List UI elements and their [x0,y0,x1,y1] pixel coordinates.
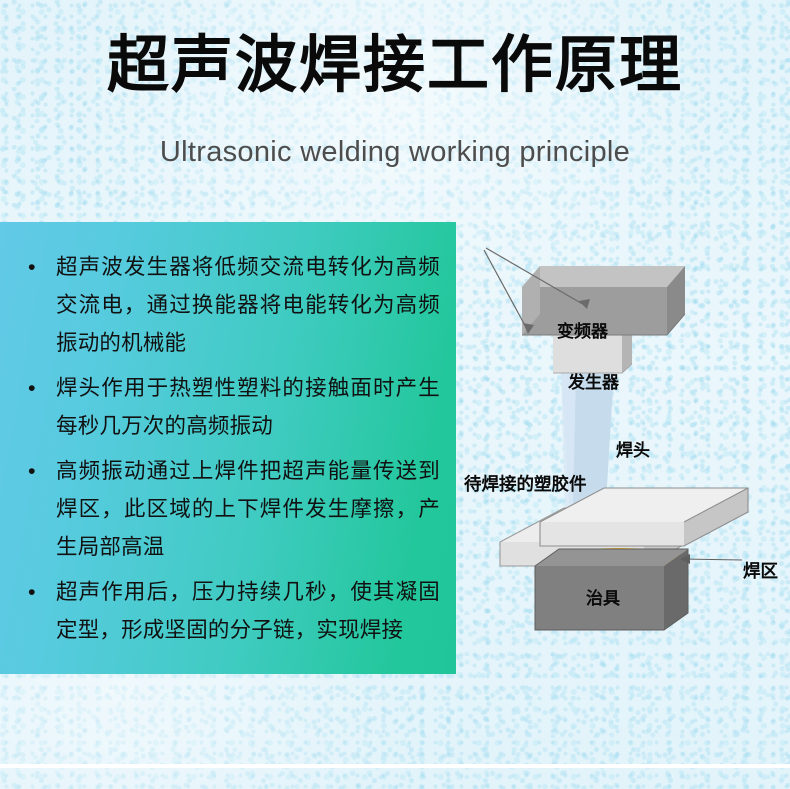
bullet-marker-icon: • [28,248,36,286]
list-item: • 超声波发生器将低频交流电转化为高频交流电，通过换能器将电能转化为高频振动的机… [14,248,440,362]
label-converter: 变频器 [557,317,608,342]
bullet-marker-icon: • [28,369,36,407]
label-weld-zone: 焊区 [743,558,778,583]
bullet-text: 超声作用后，压力持续几秒，使其凝固定型，形成坚固的分子链，实现焊接 [56,580,440,642]
label-horn: 焊头 [616,436,650,461]
page-subtitle: Ultrasonic welding working principle [0,133,790,171]
bullet-marker-icon: • [28,452,36,490]
bullet-marker-icon: • [28,573,36,611]
list-item: • 焊头作用于热塑性塑料的接触面时产生每秒几万次的高频振动 [14,369,440,445]
bullet-text: 高频振动通过上焊件把超声能量传送到焊区，此区域的上下焊件发生摩擦，产生局部高温 [56,459,440,559]
description-panel: • 超声波发生器将低频交流电转化为高频交流电，通过换能器将电能转化为高频振动的机… [0,222,456,674]
bullet-text: 焊头作用于热塑性塑料的接触面时产生每秒几万次的高频振动 [56,376,440,438]
weld-zone-leader [682,559,742,560]
bottom-separator-line [0,764,790,768]
label-jig: 治具 [586,584,620,609]
bullet-list: • 超声波发生器将低频交流电转化为高频交流电，通过换能器将电能转化为高频振动的机… [14,248,440,649]
bullet-text: 超声波发生器将低频交流电转化为高频交流电，通过换能器将电能转化为高频振动的机械能 [56,255,440,355]
list-item: • 高频振动通过上焊件把超声能量传送到焊区，此区域的上下焊件发生摩擦，产生局部高… [14,452,440,566]
list-item: • 超声作用后，压力持续几秒，使其凝固定型，形成坚固的分子链，实现焊接 [14,573,440,649]
label-generator: 发生器 [568,368,619,393]
label-plastic-parts: 待焊接的塑胶件 [464,471,587,496]
page-title: 超声波焊接工作原理 [0,26,790,104]
